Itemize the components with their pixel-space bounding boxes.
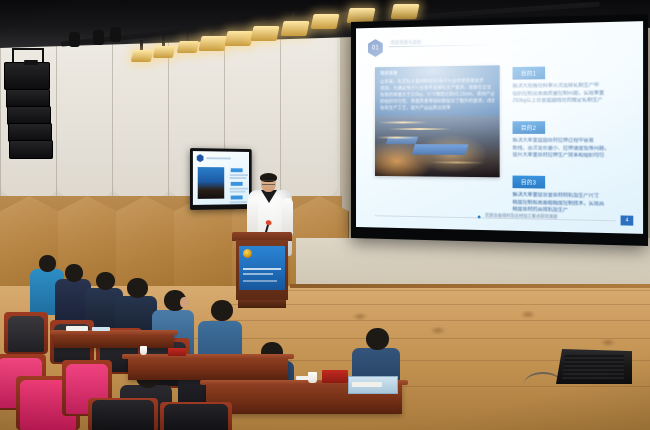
footer-bullet-icon	[478, 215, 481, 218]
goal-tag: 目的3	[513, 176, 545, 189]
audience-seating	[0, 250, 430, 430]
stage-lamp	[280, 21, 309, 36]
goal-line: 提升大单重丝材拉伸生产效率和组织均匀	[513, 152, 643, 160]
spotlight-fixture	[110, 27, 121, 42]
goal-tag-thumb	[231, 195, 243, 199]
caption-line: 现有生产工艺，提升产品品质及效率	[380, 105, 494, 112]
monitor-stand	[24, 60, 38, 65]
goal-item-1: 目的1 解决大规格坯料单火次连续轧制生产中 组织控制及表面质量控制问题，实现单重…	[513, 61, 643, 105]
slide-page-number: 4	[621, 215, 634, 225]
footer-text: 优质合金线材及丝材加工重点研究课题	[485, 213, 557, 220]
auditorium-seat	[164, 404, 228, 430]
stage-lamp	[224, 31, 253, 46]
desk-surface	[122, 354, 294, 359]
red-folder	[168, 348, 186, 356]
stage-lamp	[250, 26, 279, 41]
goal-item-3: 目的3 解决大单重钛合金丝材材机加生产尺寸 精度控制和表面粗糙度控制技术，实现高…	[513, 172, 643, 217]
goal-line: 250kg以上合金盘圆线坯的稳定轧制生产	[513, 97, 643, 105]
red-folder	[322, 370, 348, 383]
stage-lamp	[153, 46, 176, 58]
paper-stack	[92, 327, 110, 331]
section-badge: 01	[368, 39, 383, 57]
spotlight-fixture	[69, 32, 80, 47]
stage-lamp	[390, 4, 419, 19]
confidence-monitor[interactable]	[190, 148, 252, 210]
background-photo-block: 项目背景 近年来，轧定轧大金材料在5G电子行业的使用量逐步 增加，为满足电子行业…	[375, 65, 500, 177]
paper-stack	[66, 326, 88, 331]
paper-stack	[296, 376, 312, 380]
goal-tag-thumb	[231, 168, 243, 172]
presentation-slide: 01 项目背景与目的 项目背景 近年来，轧定轧大金材料在5G电子行业的使用量逐步…	[356, 21, 643, 234]
stage-lamp	[177, 41, 200, 53]
auditorium-seat	[92, 400, 154, 430]
conference-hall-photo: 01 项目背景与目的 项目背景 近年来，轧定轧大金材料在5G电子行业的使用量逐步…	[0, 0, 650, 430]
eyeglasses-icon	[262, 180, 275, 185]
paper-cup	[140, 346, 147, 355]
industrial-night-photo	[375, 116, 500, 178]
main-projection-screen[interactable]: 01 项目背景与目的 项目背景 近年来，轧定轧大金材料在5G电子行业的使用量逐步…	[351, 14, 648, 246]
goal-item-2: 目的2 解决大单重盘圆丝材拉伸过程中容易 断线，道次变形量小、拉伸速度低等问题，…	[513, 117, 643, 161]
background-photo-thumb	[198, 167, 224, 199]
section-badge-icon	[197, 154, 204, 162]
spotlight-fixture	[93, 30, 104, 45]
photo-caption: 项目背景 近年来，轧定轧大金材料在5G电子行业的使用量逐步 增加，为满足电子行业…	[375, 65, 500, 121]
slide-title: 项目背景与目的	[391, 37, 498, 47]
goal-tag: 目的1	[513, 67, 545, 80]
audience-desk	[128, 358, 288, 380]
confidence-monitor-slide	[193, 151, 249, 205]
goal-tag-thumb	[231, 182, 243, 186]
caption-heading: 项目背景	[380, 69, 494, 77]
stage-lamp	[310, 14, 339, 29]
stage-lamp	[198, 36, 227, 51]
stage-lamp	[131, 50, 154, 62]
speaker-grille	[562, 353, 624, 379]
line-array-speaker	[4, 62, 48, 160]
auditorium-seat	[8, 316, 44, 352]
paper-stack	[352, 382, 382, 387]
goal-tag: 目的2	[513, 121, 545, 134]
